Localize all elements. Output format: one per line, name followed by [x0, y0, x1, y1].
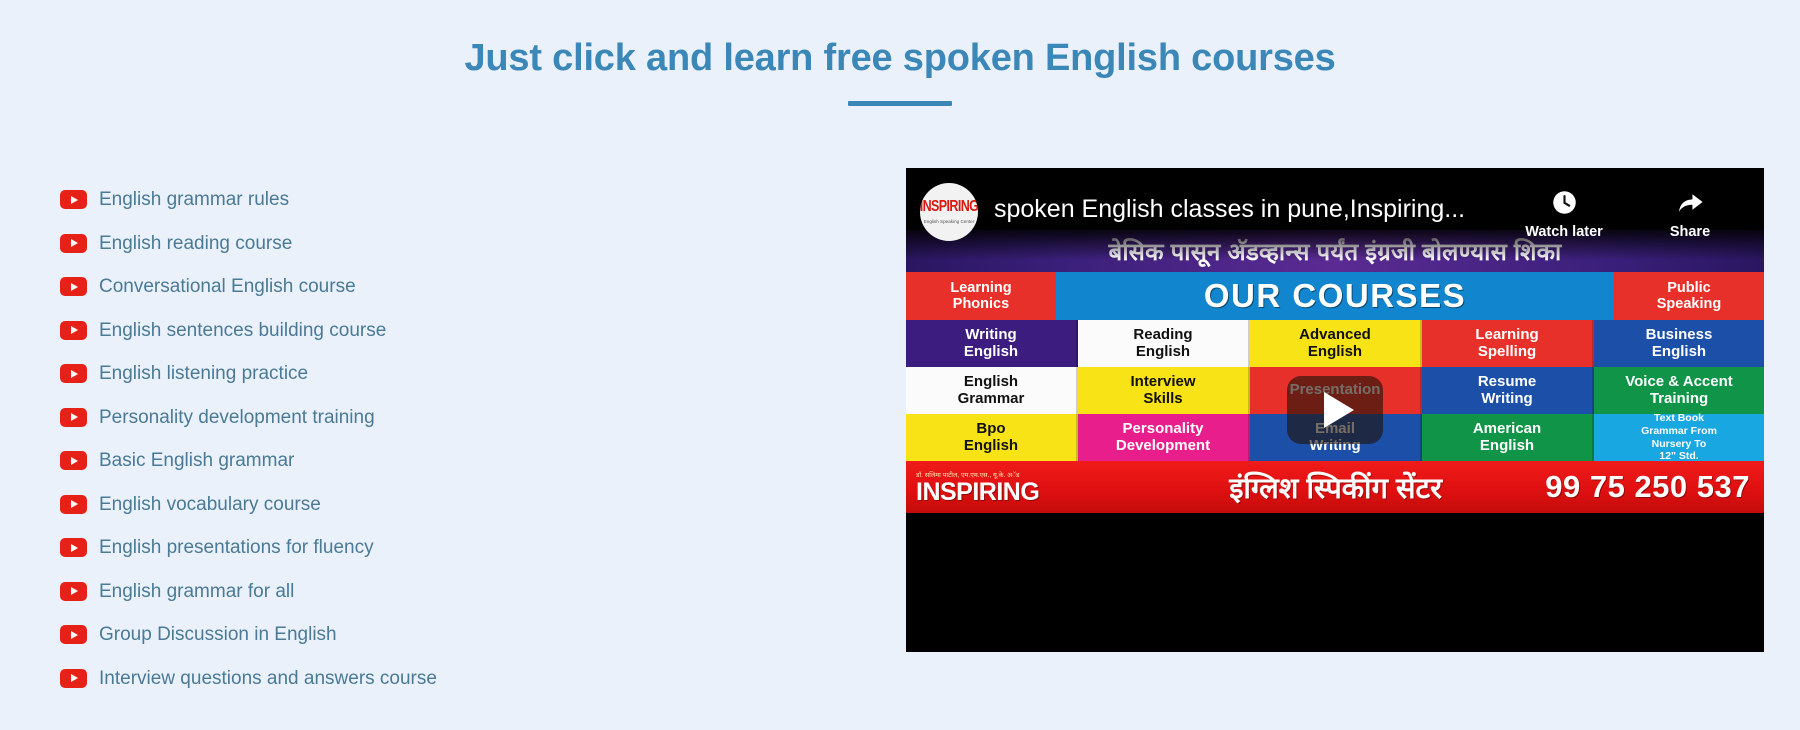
course-link[interactable]: English vocabulary course: [99, 495, 321, 514]
channel-avatar[interactable]: INSPIRING English Speaking Center: [920, 183, 978, 241]
clock-icon: [1551, 188, 1578, 216]
poster-grid-row: WritingEnglishReadingEnglishAdvancedEngl…: [906, 320, 1764, 367]
page-heading-section: Just click and learn free spoken English…: [0, 38, 1800, 106]
list-item[interactable]: Personality development training: [60, 396, 760, 440]
poster-course-cell: PersonalityDevelopment: [1078, 414, 1250, 461]
video-top-chrome: INSPIRING English Speaking Center spoken…: [906, 168, 1764, 260]
poster-footer-marathi: इंग्लिश स्पिकींग सेंटर: [1126, 468, 1545, 507]
poster-head-cell: OUR COURSES: [1056, 272, 1614, 320]
course-link[interactable]: English grammar rules: [99, 190, 289, 209]
poster-footer-banner: डॉ. सलिमा पाटील, एम.एम.एस., यू.के. अॅड I…: [906, 461, 1764, 513]
play-triangle-icon: [71, 674, 78, 682]
play-triangle-icon: [71, 631, 78, 639]
poster-head-row: LearningPhonicsOUR COURSESPublicSpeaking: [906, 272, 1764, 320]
list-item[interactable]: English vocabulary course: [60, 483, 760, 527]
play-triangle-icon: [71, 544, 78, 552]
poster-footer-phone: 99 75 250 537: [1545, 469, 1754, 505]
youtube-play-icon: [60, 669, 87, 688]
list-item[interactable]: Group Discussion in English: [60, 613, 760, 657]
youtube-play-icon: [60, 364, 87, 383]
poster-course-cell: Text BookGrammar FromNursery To12" Std.: [1594, 414, 1764, 461]
share-arrow-icon: [1676, 188, 1705, 216]
list-item[interactable]: English grammar rules: [60, 178, 760, 222]
channel-avatar-subtext: English Speaking Center: [924, 219, 975, 224]
list-item[interactable]: Conversational English course: [60, 265, 760, 309]
list-item[interactable]: English reading course: [60, 222, 760, 266]
course-link-list: English grammar rulesEnglish reading cou…: [60, 178, 760, 700]
list-item[interactable]: English sentences building course: [60, 309, 760, 353]
play-triangle-icon: [1324, 392, 1354, 428]
course-link[interactable]: English grammar for all: [99, 582, 294, 601]
poster-footer-brand: INSPIRING: [916, 480, 1126, 505]
youtube-play-icon: [60, 234, 87, 253]
video-title[interactable]: spoken English classes in pune,Inspiring…: [994, 195, 1518, 224]
share-button[interactable]: Share: [1644, 188, 1736, 240]
poster-course-cell: EnglishGrammar: [906, 367, 1078, 414]
youtube-play-icon: [60, 408, 87, 427]
page-title: Just click and learn free spoken English…: [0, 38, 1800, 80]
youtube-play-icon: [60, 625, 87, 644]
youtube-play-icon: [60, 495, 87, 514]
watch-later-button[interactable]: Watch later: [1518, 188, 1610, 240]
poster-footer-brand-block: डॉ. सलिमा पाटील, एम.एम.एस., यू.के. अॅड I…: [916, 470, 1126, 505]
poster-head-cell: PublicSpeaking: [1614, 272, 1764, 320]
youtube-play-icon: [60, 321, 87, 340]
video-action-buttons: Watch later Share: [1518, 188, 1736, 240]
course-link[interactable]: English sentences building course: [99, 321, 386, 340]
list-item[interactable]: Basic English grammar: [60, 439, 760, 483]
poster-head-cell: LearningPhonics: [906, 272, 1056, 320]
course-link[interactable]: Basic English grammar: [99, 451, 294, 470]
course-link[interactable]: English presentations for fluency: [99, 538, 374, 557]
course-link[interactable]: Group Discussion in English: [99, 625, 337, 644]
youtube-play-icon: [60, 190, 87, 209]
course-link[interactable]: Conversational English course: [99, 277, 356, 296]
course-link[interactable]: Interview questions and answers course: [99, 669, 437, 688]
title-underline-accent: [848, 101, 952, 106]
course-link[interactable]: English reading course: [99, 234, 292, 253]
play-triangle-icon: [71, 326, 78, 334]
play-triangle-icon: [71, 587, 78, 595]
course-link[interactable]: Personality development training: [99, 408, 375, 427]
play-triangle-icon: [71, 370, 78, 378]
channel-avatar-text: INSPIRING: [920, 198, 978, 214]
list-item[interactable]: English listening practice: [60, 352, 760, 396]
share-label: Share: [1670, 224, 1710, 240]
page-root: Just click and learn free spoken English…: [0, 0, 1800, 730]
poster-course-cell: WritingEnglish: [906, 320, 1078, 367]
watch-later-label: Watch later: [1525, 224, 1603, 240]
list-item[interactable]: Interview questions and answers course: [60, 657, 760, 701]
poster-course-cell: AdvancedEnglish: [1250, 320, 1422, 367]
play-button[interactable]: [1287, 376, 1383, 444]
list-item[interactable]: English grammar for all: [60, 570, 760, 614]
youtube-play-icon: [60, 277, 87, 296]
poster-course-cell: AmericanEnglish: [1422, 414, 1594, 461]
list-item[interactable]: English presentations for fluency: [60, 526, 760, 570]
play-triangle-icon: [71, 457, 78, 465]
youtube-play-icon: [60, 582, 87, 601]
play-triangle-icon: [71, 283, 78, 291]
youtube-play-icon: [60, 538, 87, 557]
poster-course-cell: ReadingEnglish: [1078, 320, 1250, 367]
poster-course-cell: Voice & AccentTraining: [1594, 367, 1764, 414]
poster-course-cell: LearningSpelling: [1422, 320, 1594, 367]
youtube-video-embed[interactable]: बेसिक पासून अ‍ॅडव्हान्स पर्यंत इंग्रजी ब…: [906, 168, 1764, 652]
play-triangle-icon: [71, 500, 78, 508]
play-triangle-icon: [71, 239, 78, 247]
poster-course-cell: ResumeWriting: [1422, 367, 1594, 414]
poster-course-cell: InterviewSkills: [1078, 367, 1250, 414]
play-triangle-icon: [71, 196, 78, 204]
poster-course-cell: BpoEnglish: [906, 414, 1078, 461]
play-triangle-icon: [71, 413, 78, 421]
youtube-play-icon: [60, 451, 87, 470]
poster-course-cell: BusinessEnglish: [1594, 320, 1764, 367]
course-link[interactable]: English listening practice: [99, 364, 308, 383]
